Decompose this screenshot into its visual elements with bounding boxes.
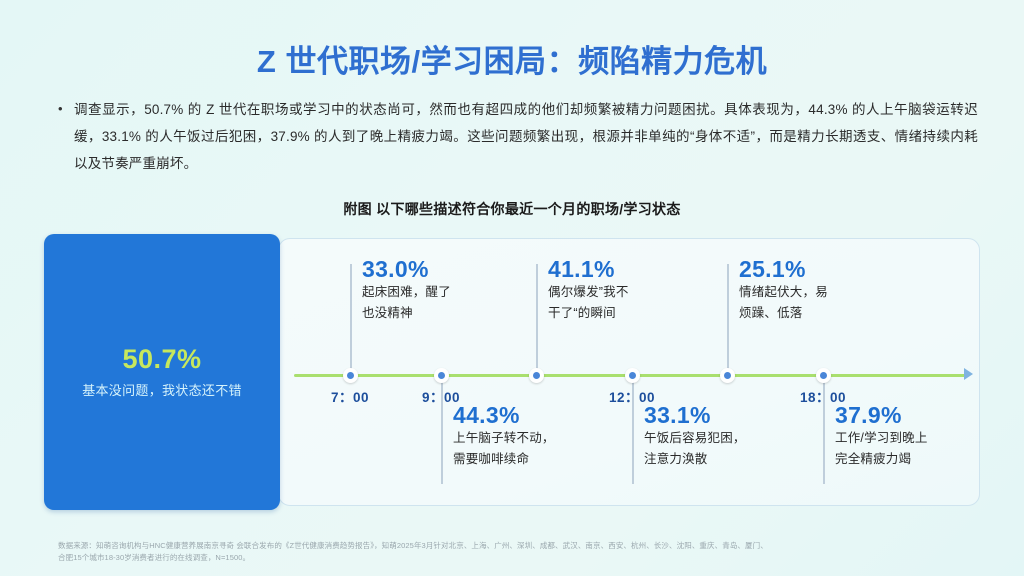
callout-stem (536, 264, 538, 370)
axis-tick-label: 18：00 (800, 386, 846, 406)
callout-text-line-2: 需要咖啡续命 (453, 449, 623, 470)
callout-text-line-1: 起床困难，醒了 (362, 282, 532, 303)
axis-tick-label: 9：00 (422, 386, 460, 406)
intro-paragraph-block: • 调查显示，50.7% 的 Z 世代在职场或学习中的状态尚可，然而也有超四成的… (58, 96, 978, 177)
callout-text-line-1: 午饭后容易犯困， (644, 428, 814, 449)
callout-item: 41.1% 偶尔爆发”我不 干了“的瞬间 (548, 256, 718, 324)
bullet-marker: • (58, 96, 74, 122)
callout-item: 25.1% 情绪起伏大，易 烦躁、低落 (739, 256, 909, 324)
timeline-dot (816, 368, 831, 383)
callout-text-line-2: 完全精疲力竭 (835, 449, 1005, 470)
timeline-dot (529, 368, 544, 383)
figure-caption: 附图 以下哪些描述符合你最近一个月的职场/学习状态 (0, 199, 1024, 219)
callout-value: 25.1% (739, 256, 909, 282)
highlight-label: 基本没问题，我状态还不错 (82, 380, 242, 399)
timeline-chart: 50.7% 基本没问题，我状态还不错 7：00 9：00 12：00 18：00… (44, 234, 980, 510)
callout-text-line-1: 工作/学习到晚上 (835, 428, 1005, 449)
callout-text-line-1: 情绪起伏大，易 (739, 282, 909, 303)
callout-item: 33.0% 起床困难，醒了 也没精神 (362, 256, 532, 324)
callout-item: 37.9% 工作/学习到晚上 完全精疲力竭 (835, 402, 1005, 470)
timeline-dot (625, 368, 640, 383)
timeline-dot (343, 368, 358, 383)
intro-paragraph: 调查显示，50.7% 的 Z 世代在职场或学习中的状态尚可，然而也有超四成的他们… (74, 96, 978, 177)
callout-text-line-2: 注意力涣散 (644, 449, 814, 470)
axis-tick-label: 7：00 (331, 386, 369, 406)
callout-text-line-2: 也没精神 (362, 303, 532, 324)
callout-value: 33.0% (362, 256, 532, 282)
timeline-dot (720, 368, 735, 383)
callout-item: 33.1% 午饭后容易犯困， 注意力涣散 (644, 402, 814, 470)
callout-value: 41.1% (548, 256, 718, 282)
callout-stem (350, 264, 352, 370)
callout-value: 44.3% (453, 402, 623, 428)
timeline-dot (434, 368, 449, 383)
callout-text-line-2: 干了“的瞬间 (548, 303, 718, 324)
timeline-arrow-icon (964, 368, 973, 380)
callout-value: 33.1% (644, 402, 814, 428)
callout-item: 44.3% 上午脑子转不动， 需要咖啡续命 (453, 402, 623, 470)
source-footer: 数据来源：知萌咨询机构与HNC健康营养展南京寻奇 会联合发布的《Z世代健康消费趋… (58, 540, 978, 564)
highlight-card: 50.7% 基本没问题，我状态还不错 (44, 234, 280, 510)
highlight-value: 50.7% (122, 346, 201, 373)
source-footer-line-1: 数据来源：知萌咨询机构与HNC健康营养展南京寻奇 会联合发布的《Z世代健康消费趋… (58, 540, 978, 552)
callout-stem (727, 264, 729, 370)
axis-tick-label: 12：00 (609, 386, 655, 406)
page-title: Z 世代职场/学习困局：频陷精力危机 (0, 36, 1024, 81)
callout-text-line-1: 偶尔爆发”我不 (548, 282, 718, 303)
callout-value: 37.9% (835, 402, 1005, 428)
callout-text-line-2: 烦躁、低落 (739, 303, 909, 324)
source-footer-line-2: 合肥15个城市18-30岁消费者进行的在线调查，N=1500。 (58, 552, 978, 564)
callout-text-line-1: 上午脑子转不动， (453, 428, 623, 449)
